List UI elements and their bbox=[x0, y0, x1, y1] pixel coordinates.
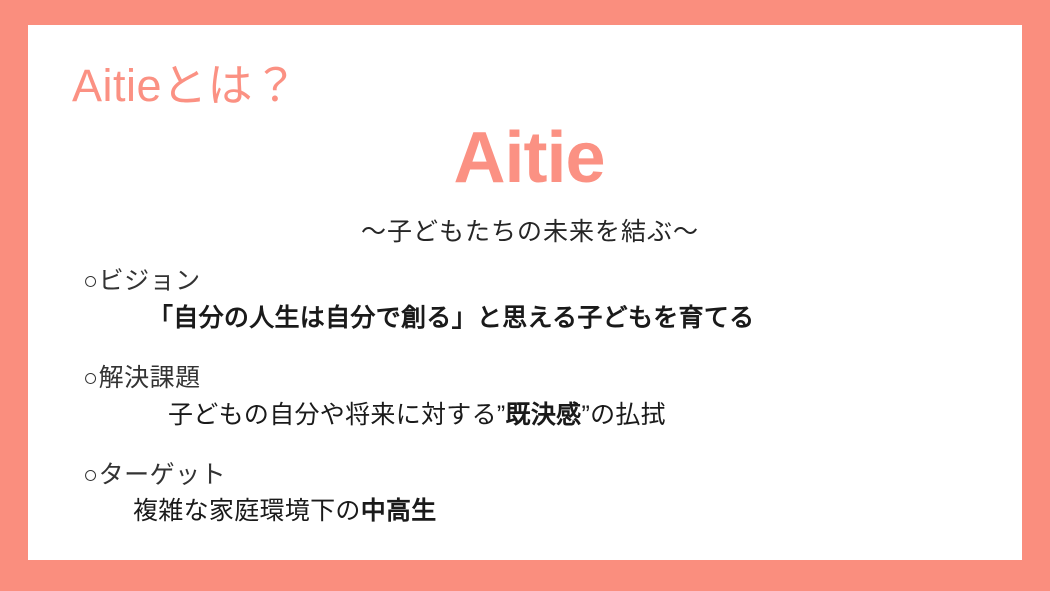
block-vision-body-text: 「自分の人生は自分で創る」と思える子どもを育てる bbox=[148, 304, 754, 332]
brand-logotype: Aitie bbox=[28, 121, 1022, 197]
slide-canvas: Aitieとは？ Aitie 〜子どもたちの未来を結ぶ〜 ○ビジョン 「自分の人… bbox=[28, 25, 1022, 560]
block-issue-heading: ○解決課題 bbox=[28, 362, 1022, 396]
block-issue: ○解決課題 子どもの自分や将来に対する”既決感”の払拭 bbox=[28, 362, 1022, 433]
block-vision: ○ビジョン 「自分の人生は自分で創る」と思える子どもを育てる bbox=[28, 265, 1022, 336]
content-blocks: ○ビジョン 「自分の人生は自分で創る」と思える子どもを育てる ○解決課題 子ども… bbox=[28, 265, 1022, 529]
brand-tagline: 〜子どもたちの未来を結ぶ〜 bbox=[38, 215, 1022, 250]
block-vision-body: 「自分の人生は自分で創る」と思える子どもを育てる bbox=[28, 301, 1022, 336]
block-vision-heading: ○ビジョン bbox=[28, 265, 1022, 299]
block-target-body-emphasis: 中高生 bbox=[361, 497, 437, 525]
block-target: ○ターゲット 複雑な家庭環境下の中高生 bbox=[28, 459, 1022, 530]
block-target-body: 複雑な家庭環境下の中高生 bbox=[28, 494, 1022, 529]
block-issue-body-suffix: ”の払拭 bbox=[581, 401, 666, 429]
block-issue-body: 子どもの自分や将来に対する”既決感”の払拭 bbox=[28, 398, 1022, 433]
brand-logotype-text: Aitie bbox=[453, 121, 604, 197]
block-issue-body-prefix: 子どもの自分や将来に対する” bbox=[168, 401, 506, 429]
block-issue-body-emphasis: 既決感 bbox=[506, 401, 582, 429]
page-title: Aitieとは？ bbox=[72, 61, 299, 111]
slide-frame: Aitieとは？ Aitie 〜子どもたちの未来を結ぶ〜 ○ビジョン 「自分の人… bbox=[0, 0, 1050, 591]
block-target-body-prefix: 複雑な家庭環境下の bbox=[133, 497, 361, 525]
block-target-heading: ○ターゲット bbox=[28, 459, 1022, 493]
